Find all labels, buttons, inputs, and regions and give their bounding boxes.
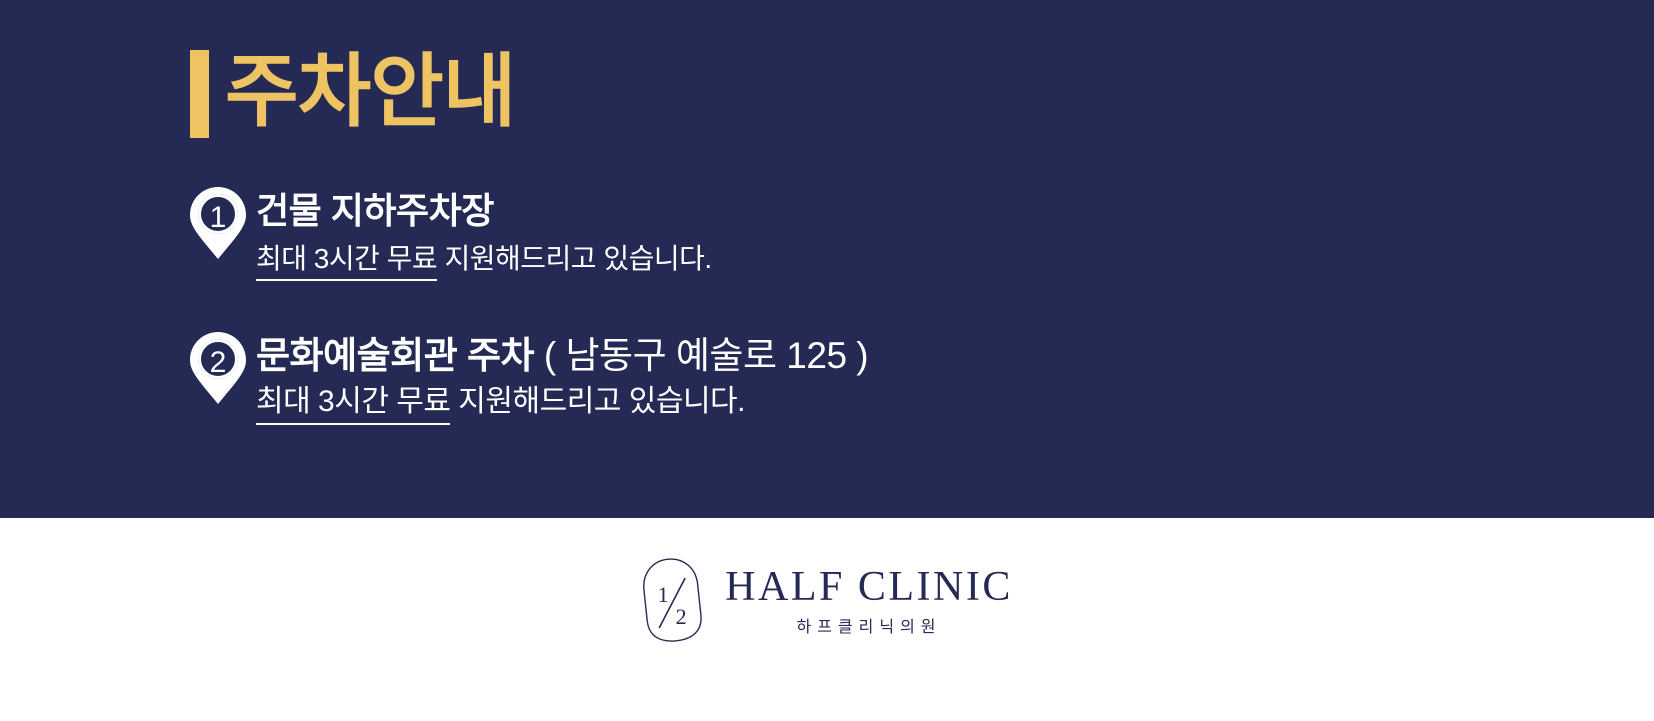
brand-name-ko: 하프클리닉의원	[796, 618, 941, 638]
pin-number-2: 2	[210, 346, 227, 379]
half-clinic-emblem-icon: 1 2	[641, 556, 703, 644]
footer: 1 2 HALF CLINIC 하프클리닉의원	[0, 518, 1654, 721]
parking-item-1-heading: 건물 지하주차장	[256, 189, 712, 233]
parking-item-1-sub-rest: 지원해드리고 있습니다.	[437, 243, 711, 274]
parking-item-2-subtitle: 최대 3시간 무료 지원해드리고 있습니다.	[256, 384, 868, 420]
parking-item-2-heading-address: ( 남동구 예술로 125 )	[534, 335, 868, 376]
svg-text:1: 1	[658, 582, 669, 607]
parking-info-banner: 주차안내 1 건물 지하주차장 최대 3시간 무료 지원해드리고 있습니다.	[0, 0, 1654, 721]
parking-item-2-heading-main: 문화예술회관 주차	[256, 335, 534, 376]
parking-item-2-sub-underlined: 최대 3시간 무료	[256, 385, 450, 425]
parking-item-1-sub-underlined: 최대 3시간 무료	[256, 243, 437, 281]
page-title: 주차안내	[190, 44, 515, 140]
brand-name-en: HALF CLINIC	[725, 563, 1013, 611]
parking-item-1: 1 건물 지하주차장 최대 3시간 무료 지원해드리고 있습니다.	[188, 185, 712, 277]
page-title-text: 주차안내	[225, 44, 515, 140]
parking-item-2-heading: 문화예술회관 주차 ( 남동구 예술로 125 )	[256, 334, 868, 378]
parking-item-2-body: 문화예술회관 주차 ( 남동구 예술로 125 ) 최대 3시간 무료 지원해드…	[256, 330, 868, 420]
map-pin-icon: 2	[188, 330, 248, 406]
brand-logo: 1 2 HALF CLINIC 하프클리닉의원	[641, 556, 1013, 644]
svg-text:2: 2	[676, 604, 687, 629]
parking-item-1-subtitle: 최대 3시간 무료 지원해드리고 있습니다.	[256, 241, 712, 277]
title-accent-bar-icon	[190, 50, 209, 138]
parking-item-2: 2 문화예술회관 주차 ( 남동구 예술로 125 ) 최대 3시간 무료 지원…	[188, 330, 868, 420]
parking-item-2-sub-rest: 지원해드리고 있습니다.	[450, 385, 745, 418]
map-pin-icon: 1	[188, 185, 248, 261]
parking-item-1-body: 건물 지하주차장 최대 3시간 무료 지원해드리고 있습니다.	[256, 185, 712, 277]
pin-number-1: 1	[210, 201, 227, 234]
brand-wordmark: HALF CLINIC 하프클리닉의원	[725, 563, 1013, 638]
parking-info-panel: 주차안내 1 건물 지하주차장 최대 3시간 무료 지원해드리고 있습니다.	[0, 0, 1654, 518]
